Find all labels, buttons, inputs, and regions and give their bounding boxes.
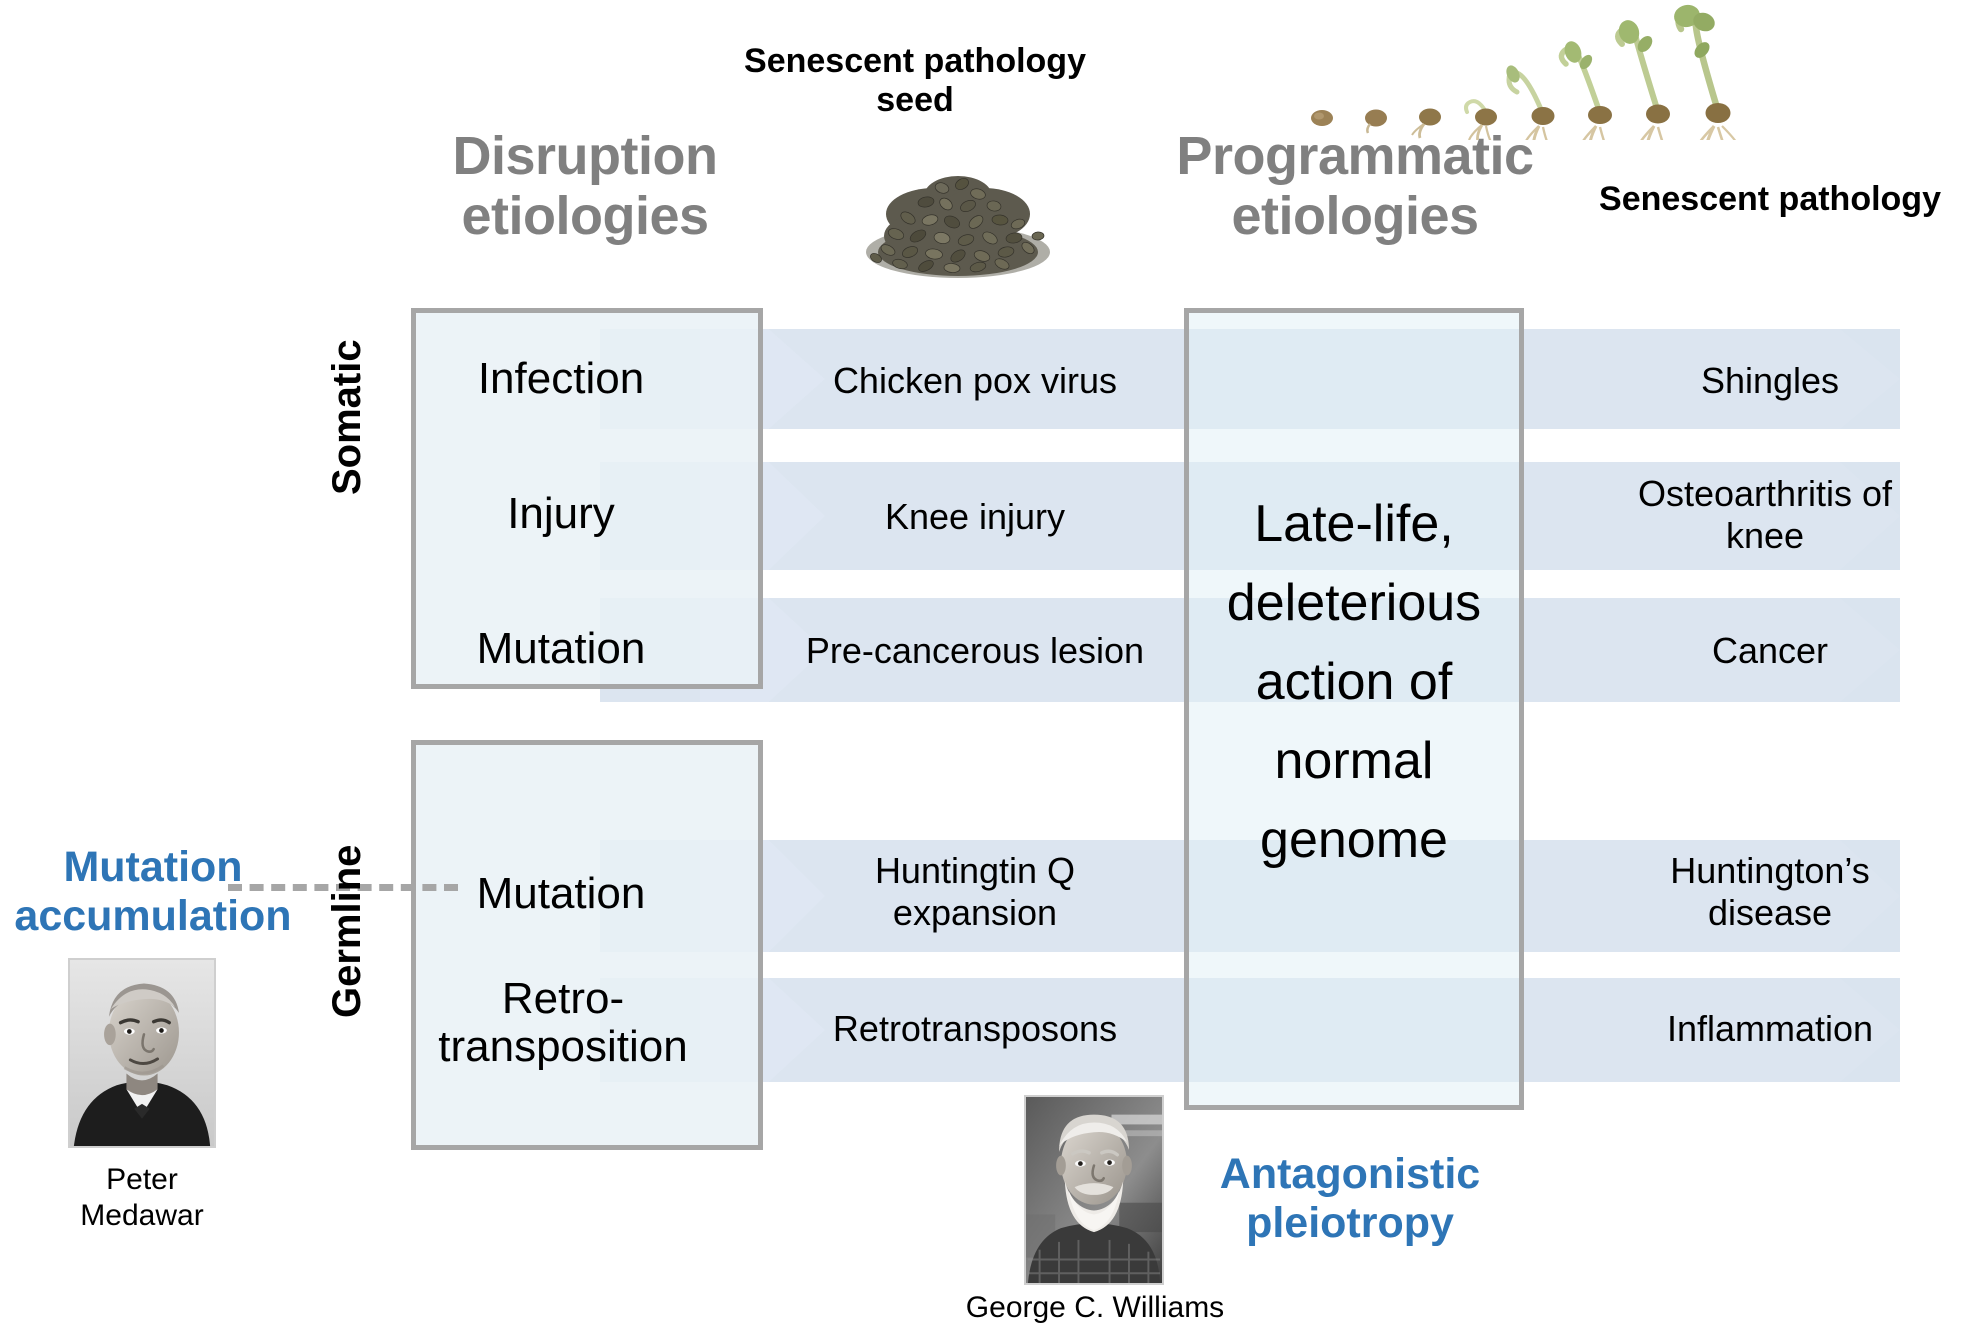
heading-senescent-pathology-seed: Senescent pathology seed <box>705 42 1125 120</box>
etiology-label-row-3: Mutation <box>411 625 711 673</box>
heading-senescent-pathology: Senescent pathology <box>1580 180 1960 219</box>
heading-programmatic-etiologies: Programmatic etiologies <box>1115 126 1595 247</box>
theory-antagonistic-pleiotropy: Antagonistic pleiotropy <box>1185 1150 1515 1248</box>
seed-cell-row-3: Pre-cancerous lesion <box>765 630 1185 672</box>
seed-cell-row-4: Huntingtin Q expansion <box>775 850 1175 934</box>
seedling-germination-series-photo <box>1300 0 1780 140</box>
theory-mutation-accumulation: Mutation accumulation <box>8 843 298 941</box>
pathology-cell-row-1: Shingles <box>1575 360 1965 402</box>
etiology-label-row-1: Infection <box>411 355 711 403</box>
pathology-cell-row-4: Huntington’s disease <box>1575 850 1965 934</box>
seed-pile-photo <box>838 152 1078 282</box>
pathology-cell-row-3: Cancer <box>1575 630 1965 672</box>
portrait-caption-george-c-williams: George C. Williams <box>960 1290 1230 1326</box>
portrait-caption-peter-medawar: Peter Medawar <box>52 1162 232 1234</box>
seed-cell-row-1: Chicken pox virus <box>775 360 1175 402</box>
seed-cell-row-2: Knee injury <box>775 496 1175 538</box>
programmatic-etiology-text: Late-life, deleterious action of normal … <box>1184 485 1524 880</box>
etiology-label-row-5: Retro- transposition <box>398 975 728 1072</box>
pathology-cell-row-2: Osteoarthritis of knee <box>1565 473 1965 557</box>
heading-disruption-etiologies: Disruption etiologies <box>345 126 825 247</box>
seed-cell-row-5: Retrotransposons <box>775 1008 1175 1050</box>
figure-canvas: Somatic Germline Disruption etiologies P… <box>0 0 1965 1331</box>
pathology-cell-row-5: Inflammation <box>1575 1008 1965 1050</box>
portrait-george-c-williams <box>1024 1095 1164 1285</box>
portrait-peter-medawar <box>68 958 216 1148</box>
etiology-label-row-4: Mutation <box>411 870 711 918</box>
germline-etiology-box <box>411 740 763 1150</box>
group-label-germline: Germline <box>325 845 370 1018</box>
etiology-label-row-2: Injury <box>411 490 711 538</box>
group-label-somatic: Somatic <box>325 339 370 495</box>
